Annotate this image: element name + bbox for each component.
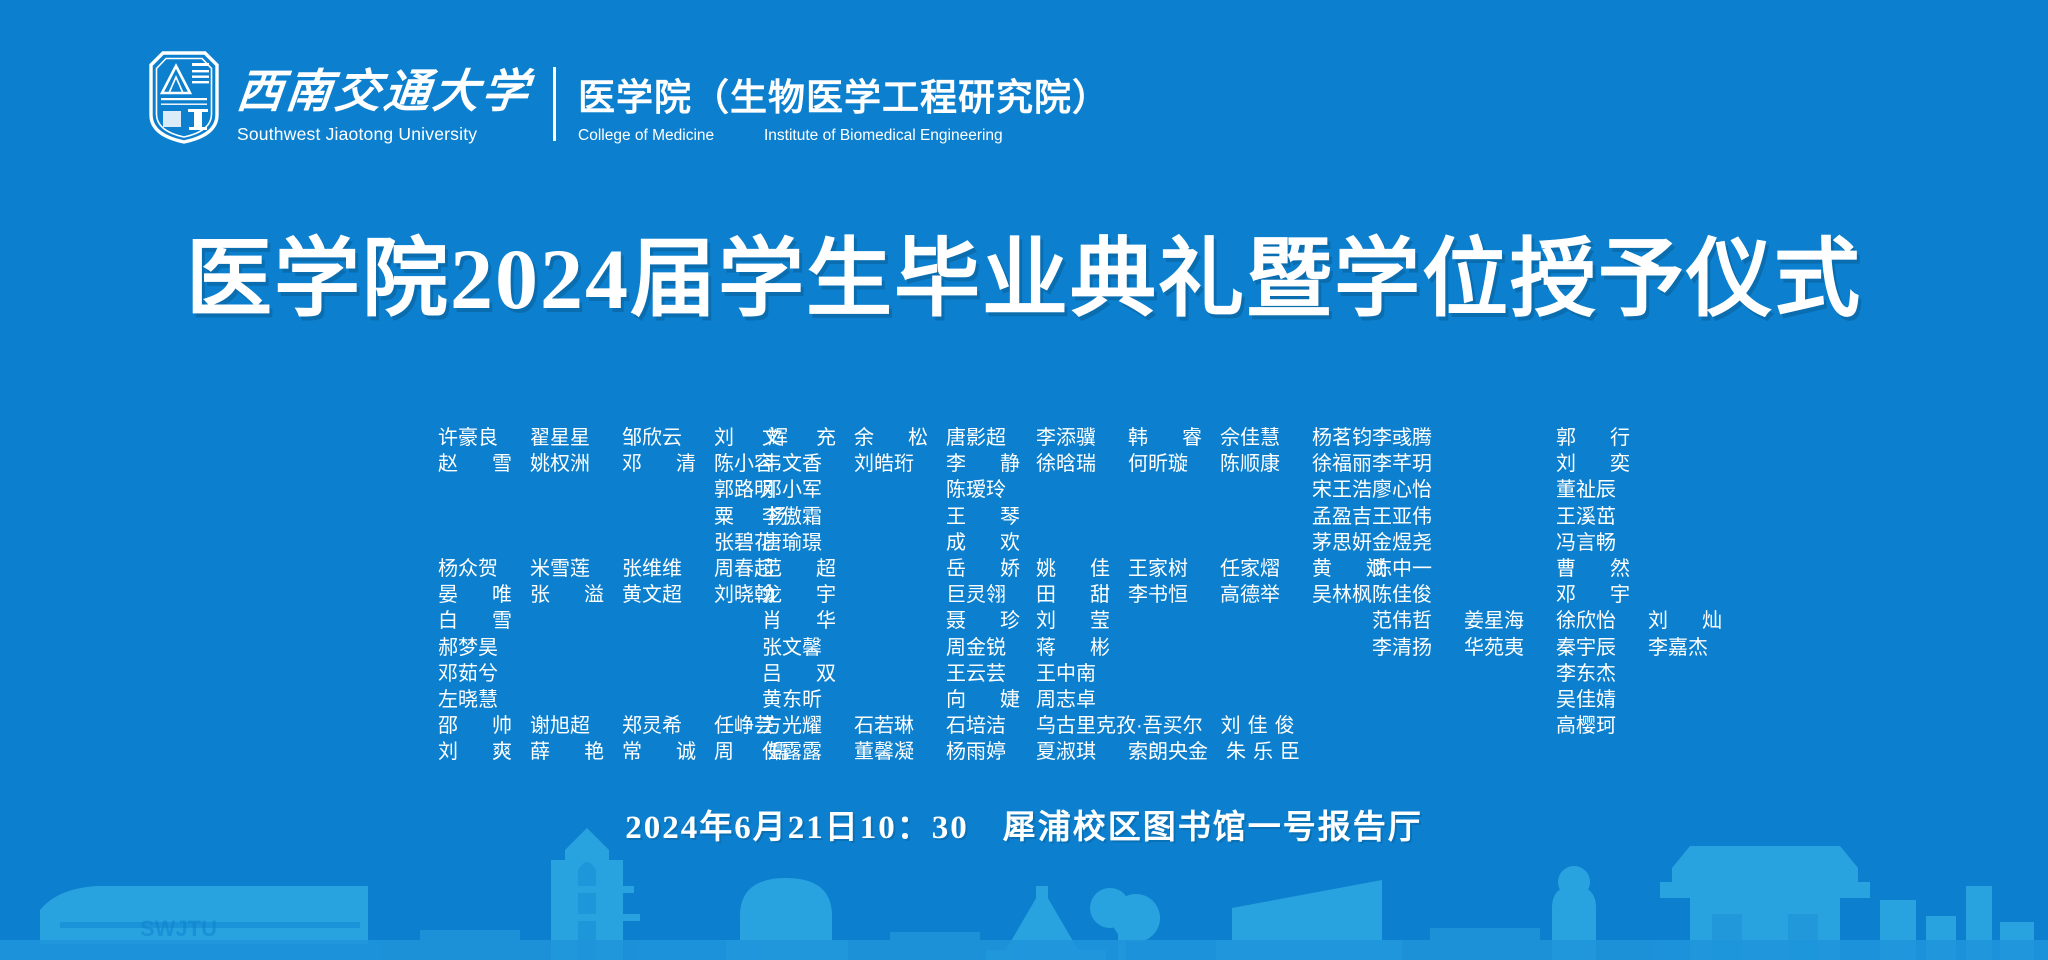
name-row: 刘莹 [1036,608,1386,634]
graduate-name: 乌古里克孜·吾买尔 [1036,716,1203,736]
graduate-name: 文充 [762,428,836,448]
graduate-name: 翟星星 [530,428,604,448]
graduate-name: 刘皓珩 [854,454,928,474]
graduate-name: 高樱珂 [1556,716,1630,736]
name-group-2: 文充余松唐影超韦文香刘皓珩李静邓小军 陈瑷玲李傲霜 王琴唐瑜璟 成欢范超 岳娇龙… [762,425,1020,765]
name-group-1: 许豪良翟星星邹欣云刘辉赵雪姚权洲邓清陈小容 郭路明 粟杨 张碧花杨众贺米雪莲张维… [438,425,788,765]
graduate-name: 任露露 [762,742,836,762]
name-row: 李清扬华苑夷秦宇辰李嘉杰 [1372,635,1722,661]
graduate-name: 李彧腾 [1372,428,1446,448]
graduate-name: 石若琳 [854,716,928,736]
name-row: 王亚伟 王溪茁 [1372,504,1722,530]
graduate-name: 金煜尧 [1372,533,1446,553]
graduate-name: 王家树 [1128,559,1202,579]
graduate-name: 吕双 [762,664,836,684]
graduate-name: 姚佳 [1036,559,1110,579]
graduate-name: 范超 [762,559,836,579]
name-row: 黄东昕 向婕 [762,687,1020,713]
graduate-name: 佘佳慧 [1220,428,1294,448]
name-row: 韦文香刘皓珩李静 [762,451,1020,477]
graduate-name: 刘爽 [438,742,512,762]
graduate-name: 董馨凝 [854,742,928,762]
graduate-name: 夏淑琪 [1036,742,1110,762]
name-row: 刘爽薛艳常诚周嬬 [438,739,788,765]
graduate-name: 王亚伟 [1372,507,1446,527]
graduate-name: 李嘉杰 [1648,638,1722,658]
name-row: 李芊玥 刘奕 [1372,451,1722,477]
graduate-name: 龙宇 [762,585,836,605]
graduate-name: 张维维 [622,559,696,579]
name-row: 郭路明 [438,477,788,503]
name-row: 任露露董馨凝杨雨婷 [762,739,1020,765]
graduate-name: 陈顺康 [1220,454,1294,474]
graduate-name: 郭行 [1556,428,1630,448]
name-row: 蒋彬 [1036,635,1386,661]
poster-canvas: 西南交通大学 Southwest Jiaotong University 医学院… [0,0,2048,960]
graduate-name: 王云芸 [946,664,1020,684]
graduate-name: 岳娇 [946,559,1020,579]
graduate-name: 张文馨 [762,638,836,658]
graduate-name: 晏唯 [438,585,512,605]
graduate-name: 薛艳 [530,742,604,762]
graduate-name: 姚权洲 [530,454,604,474]
graduate-name: 赵雪 [438,454,512,474]
graduate-name: 冯言畅 [1556,533,1630,553]
name-row: 肖华 聂珍 [762,608,1020,634]
college-name-en-2: Institute of Biomedical Engineering [764,127,1003,145]
graduate-name: 刘莹 [1036,611,1110,631]
graduate-name: 刘奕 [1556,454,1630,474]
graduate-name: 田甜 [1036,585,1110,605]
graduate-name: 曹然 [1556,559,1630,579]
name-row: 孟盈吉 [1036,504,1386,530]
name-row: 徐晗瑞何昕璇陈顺康徐福丽 [1036,451,1386,477]
name-row: 范伟哲姜星海徐欣怡刘灿 [1372,608,1722,634]
college-name-cn: 医学院（生物医学工程研究院） [578,79,1110,116]
university-name-cn: 西南交通大学 [235,69,534,115]
graduate-name: 白雪 [438,611,512,631]
swjtu-crest-icon [145,49,223,145]
name-row: 李傲霜 王琴 [762,504,1020,530]
graduate-name: 范伟哲 [1372,611,1446,631]
name-row: 茅思妍 [1036,530,1386,556]
graduate-name: 李静 [946,454,1020,474]
graduate-name: 周志卓 [1036,690,1110,710]
graduate-name: 肖华 [762,611,836,631]
name-row: 张文馨 周金锐 [762,635,1020,661]
graduate-name: 王中南 [1036,664,1110,684]
graduate-name: 索朗央金 [1128,742,1208,762]
name-row: 李彧腾 郭行 [1372,425,1722,451]
graduate-name: 何昕璇 [1128,454,1202,474]
name-row: 邓小军 陈瑷玲 [762,477,1020,503]
graduate-name: 许豪良 [438,428,512,448]
graduate-name: 邓宇 [1556,585,1630,605]
graduate-name: 姜星海 [1464,611,1538,631]
name-row: 陈中一 曹然 [1372,556,1722,582]
lockup-divider [553,67,556,141]
college-name-block: 医学院（生物医学工程研究院） College of Medicine Insti… [578,79,1110,145]
graduate-name: 任家熠 [1220,559,1294,579]
graduate-name: 董祉辰 [1556,480,1630,500]
brand-lockup: 西南交通大学 Southwest Jiaotong University 医学院… [145,40,1110,145]
graduate-name: 石培洁 [946,716,1020,736]
name-row: 郝梦昊 [438,635,788,661]
graduate-name: 陈中一 [1372,559,1446,579]
university-name-block: 西南交通大学 Southwest Jiaotong University [237,69,531,145]
svg-text:SWJTU: SWJTU [140,916,217,941]
college-name-en-row: College of Medicine Institute of Biomedi… [578,127,1110,145]
graduate-name: 郝梦昊 [438,638,512,658]
university-name-en: Southwest Jiaotong University [237,124,531,145]
graduate-name: 朱乐臣 [1226,742,1300,762]
name-row: 王中南 [1036,661,1386,687]
graduate-name: 黄文超 [622,585,696,605]
graduate-name: 向婕 [946,690,1020,710]
name-group-4: 李彧腾 郭行李芊玥 刘奕廖心怡 董祉辰王亚伟 王溪茁金煜尧 冯言畅陈中一 曹然陈… [1372,425,1722,739]
graduate-name: 左晓慧 [438,690,512,710]
graduate-name: 常诚 [622,742,696,762]
graduate-name: 方光耀 [762,716,836,736]
graduate-name: 李添骥 [1036,428,1110,448]
graduate-name: 高德举 [1220,585,1294,605]
name-group-3: 李添骥韩睿佘佳慧杨茗钧徐晗瑞何昕璇陈顺康徐福丽 宋王浩 孟盈吉 茅思妍姚佳王家树… [1036,425,1386,765]
graduate-name: 谢旭超 [530,716,604,736]
graduate-name: 郑灵希 [622,716,696,736]
graduate-name: 聂珍 [946,611,1020,631]
name-row: 廖心怡 董祉辰 [1372,477,1722,503]
graduate-name: 华苑夷 [1464,638,1538,658]
graduate-name: 黄东昕 [762,690,836,710]
graduate-name: 李书恒 [1128,585,1202,605]
graduate-name: 李傲霜 [762,507,836,527]
graduate-name: 陈瑷玲 [946,480,1020,500]
name-row: 唐瑜璟 成欢 [762,530,1020,556]
graduate-name: 韩睿 [1128,428,1202,448]
name-row: 金煜尧 冯言畅 [1372,530,1722,556]
graduate-name: 邓茹兮 [438,664,512,684]
graduate-name: 余松 [854,428,928,448]
graduate-name: 王琴 [946,507,1020,527]
graduate-name: 唐影超 [946,428,1020,448]
graduate-name: 巨灵翎 [946,585,1020,605]
name-row: 粟杨 [438,504,788,530]
graduate-name: 刘灿 [1648,611,1722,631]
graduate-name: 李东杰 [1556,664,1630,684]
graduate-name: 廖心怡 [1372,480,1446,500]
graduate-name: 杨众贺 [438,559,512,579]
name-row: 白雪 [438,608,788,634]
name-row: 邓茹兮 [438,661,788,687]
graduate-name: 唐瑜璟 [762,533,836,553]
graduate-name: 刘佳俊 [1221,716,1295,736]
graduate-name: 周金锐 [946,638,1020,658]
name-row: 许豪良翟星星邹欣云刘辉 [438,425,788,451]
graduate-name: 蒋彬 [1036,638,1110,658]
name-row: 姚佳王家树任家熠黄斌 [1036,556,1386,582]
name-row: 杨众贺米雪莲张维维周春起 [438,556,788,582]
graduate-name: 韦文香 [762,454,836,474]
graduate-name: 成欢 [946,533,1020,553]
name-row: 李东杰 [1372,661,1722,687]
graduate-name: 邓清 [622,454,696,474]
name-row: 乌古里克孜·吾买尔刘佳俊 [1036,713,1386,739]
name-row: 赵雪姚权洲邓清陈小容 [438,451,788,477]
name-row: 吕双 王云芸 [762,661,1020,687]
graduate-name: 张溢 [530,585,604,605]
name-row: 夏淑琪索朗央金朱乐臣 [1036,739,1386,765]
graduate-name: 徐晗瑞 [1036,454,1110,474]
graduate-name: 邵帅 [438,716,512,736]
name-row: 晏唯张溢黄文超刘晓翰 [438,582,788,608]
graduate-name: 李清扬 [1372,638,1446,658]
name-row: 左晓慧 [438,687,788,713]
city-skyline-decoration: SWJTU [0,790,2048,960]
name-row: 陈佳俊 邓宇 [1372,582,1722,608]
graduate-name: 王溪茁 [1556,507,1630,527]
name-row: 方光耀石若琳石培洁 [762,713,1020,739]
graduate-name: 秦宇辰 [1556,638,1630,658]
name-row: 田甜李书恒高德举吴林枫 [1036,582,1386,608]
graduate-name: 陈佳俊 [1372,585,1446,605]
college-name-en-1: College of Medicine [578,127,764,145]
name-row: 范超 岳娇 [762,556,1020,582]
name-row: 宋王浩 [1036,477,1386,503]
graduate-name: 徐欣怡 [1556,611,1630,631]
name-row: 龙宇 巨灵翎 [762,582,1020,608]
graduate-name: 米雪莲 [530,559,604,579]
name-row: 高樱珂 [1372,713,1722,739]
name-row: 李添骥韩睿佘佳慧杨茗钧 [1036,425,1386,451]
graduate-name: 杨雨婷 [946,742,1020,762]
name-row: 文充余松唐影超 [762,425,1020,451]
graduate-name: 邓小军 [762,480,836,500]
name-row: 周志卓 [1036,687,1386,713]
graduate-name-list: 许豪良翟星星邹欣云刘辉赵雪姚权洲邓清陈小容 郭路明 粟杨 张碧花杨众贺米雪莲张维… [0,425,2048,770]
graduate-name: 邹欣云 [622,428,696,448]
name-row: 邵帅谢旭超郑灵希任峥芸 [438,713,788,739]
page-title: 医学院2024届学生毕业典礼暨学位授予仪式 [0,232,2048,327]
name-row: 张碧花 [438,530,788,556]
graduate-name: 李芊玥 [1372,454,1446,474]
name-row: 吴佳婧 [1372,687,1722,713]
graduate-name: 吴佳婧 [1556,690,1630,710]
